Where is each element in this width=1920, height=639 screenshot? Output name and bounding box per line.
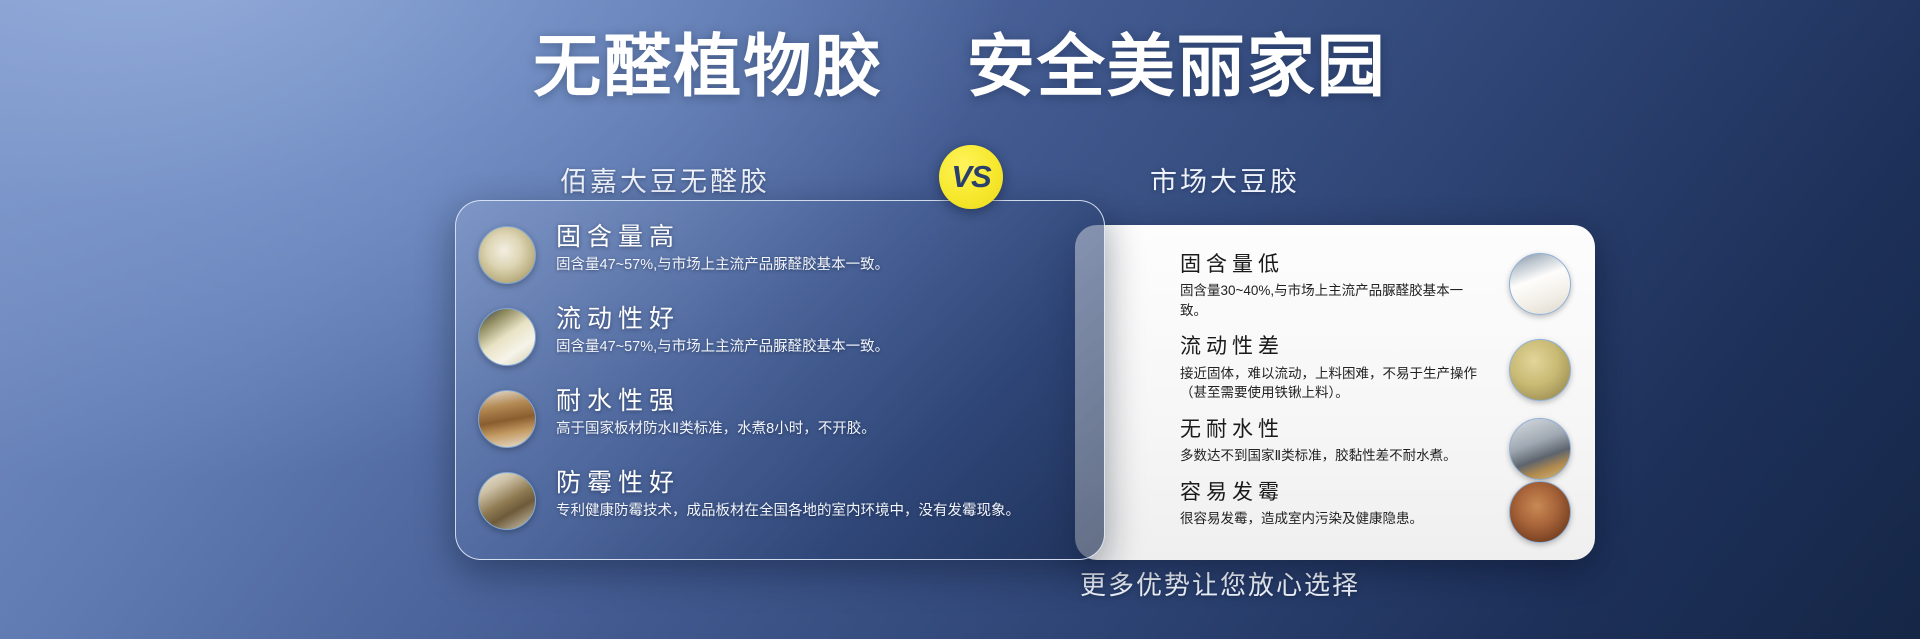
item-title: 流动性差 [1180,333,1565,361]
caption-left-product: 佰嘉大豆无醛胶 [560,160,770,199]
list-item: 流动性好 固含量47~57%,与市场上主流产品脲醛胶基本一致。 [478,301,1082,383]
item-title: 容易发霉 [1180,479,1565,507]
list-item: 固含量低 固含量30~40%,与市场上主流产品脲醛胶基本一致。 [1180,251,1565,320]
page-title: 无醛植物胶 安全美丽家园 [0,32,1920,103]
item-desc: 固含量30~40%,与市场上主流产品脲醛胶基本一致。 [1180,281,1480,320]
baijia-glue-card: 固含量高 固含量47~57%,与市场上主流产品脲醛胶基本一致。 流动性好 固含量… [455,200,1105,560]
item-title: 防霉性好 [556,467,1020,500]
market-glue-card: 固含量低 固含量30~40%,与市场上主流产品脲醛胶基本一致。 流动性差 接近固… [1075,225,1595,560]
item-title: 流动性好 [556,303,889,336]
item-desc: 接近固体，难以流动，上料困难，不易于生产操作（甚至需要使用铁锹上料）。 [1180,364,1480,403]
test-machine-thumb-icon [1509,418,1571,480]
item-title: 固含量低 [1180,251,1565,279]
footer-note: 更多优势让您放心选择 [1080,565,1360,602]
list-item: 流动性差 接近固体，难以流动，上料困难，不易于生产操作（甚至需要使用铁锹上料）。 [1180,333,1565,402]
list-item: 无耐水性 多数达不到国家Ⅱ类标准，胶黏性差不耐水煮。 [1180,416,1565,466]
vs-label: VS [951,159,990,195]
flow-thumb-icon [478,308,536,366]
yellow-solid-thumb-icon [1509,339,1571,401]
list-item: 容易发霉 很容易发霉，造成室内污染及健康隐患。 [1180,479,1565,529]
plywood-thumb-icon [478,472,536,530]
item-desc: 固含量47~57%,与市场上主流产品脲醛胶基本一致。 [556,337,889,357]
vs-badge: VS [939,145,1003,209]
white-glue-thumb-icon [1509,253,1571,315]
item-title: 固含量高 [556,221,889,254]
caption-right-product: 市场大豆胶 [1150,160,1300,199]
promo-banner: 无醛植物胶 安全美丽家园 佰嘉大豆无醛胶 市场大豆胶 固含量低 固含量30~40… [0,0,1920,639]
item-desc: 很容易发霉，造成室内污染及健康隐患。 [1180,509,1480,529]
item-title: 耐水性强 [556,385,876,418]
paste-thumb-icon [478,226,536,284]
item-desc: 多数达不到国家Ⅱ类标准，胶黏性差不耐水煮。 [1180,446,1480,466]
list-item: 固含量高 固含量47~57%,与市场上主流产品脲醛胶基本一致。 [478,219,1082,301]
item-title: 无耐水性 [1180,416,1565,444]
item-desc: 专利健康防霉技术，成品板材在全国各地的室内环境中，没有发霉现象。 [556,501,1020,521]
board-thumb-icon [478,390,536,448]
list-item: 防霉性好 专利健康防霉技术，成品板材在全国各地的室内环境中，没有发霉现象。 [478,465,1082,547]
mold-thumb-icon [1509,481,1571,543]
item-desc: 固含量47~57%,与市场上主流产品脲醛胶基本一致。 [556,255,889,275]
list-item: 耐水性强 高于国家板材防水Ⅱ类标准，水煮8小时，不开胶。 [478,383,1082,465]
item-desc: 高于国家板材防水Ⅱ类标准，水煮8小时，不开胶。 [556,419,876,439]
